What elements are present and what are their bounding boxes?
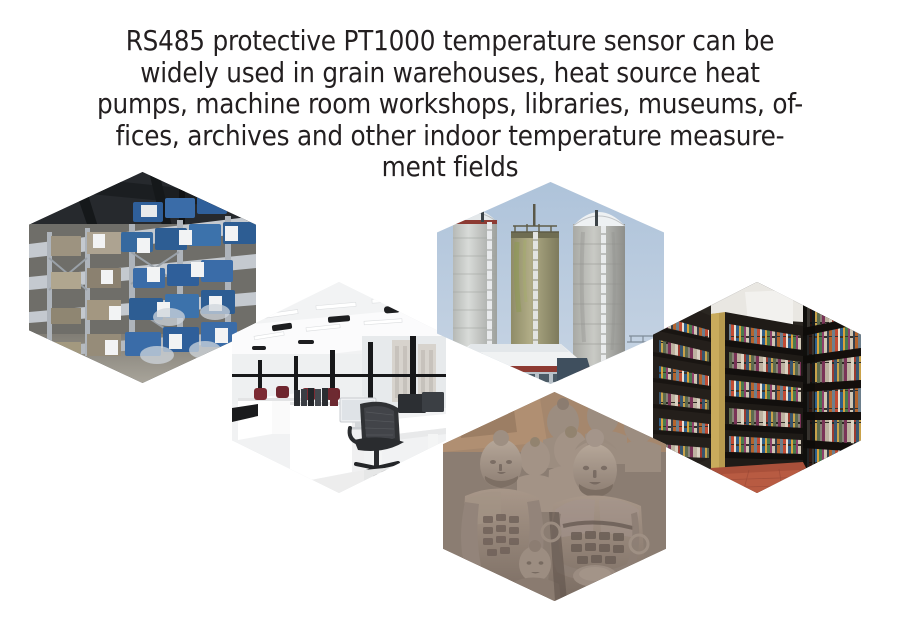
gallery-tile-museum [443,392,666,601]
silo-scene-image [437,182,664,384]
page-title: RS485 protective PT1000 temperature sens… [50,26,850,184]
gallery-tile-silo [437,182,664,384]
gallery-tile-warehouse [29,172,256,383]
museum-scene-image [443,392,666,601]
office-scene-image [232,282,446,493]
poster-canvas: RS485 protective PT1000 temperature sens… [0,0,900,631]
warehouse-scene-image [29,172,256,383]
gallery-tile-office [232,282,446,493]
gallery-tile-library [653,282,861,493]
library-scene-image [653,282,861,493]
